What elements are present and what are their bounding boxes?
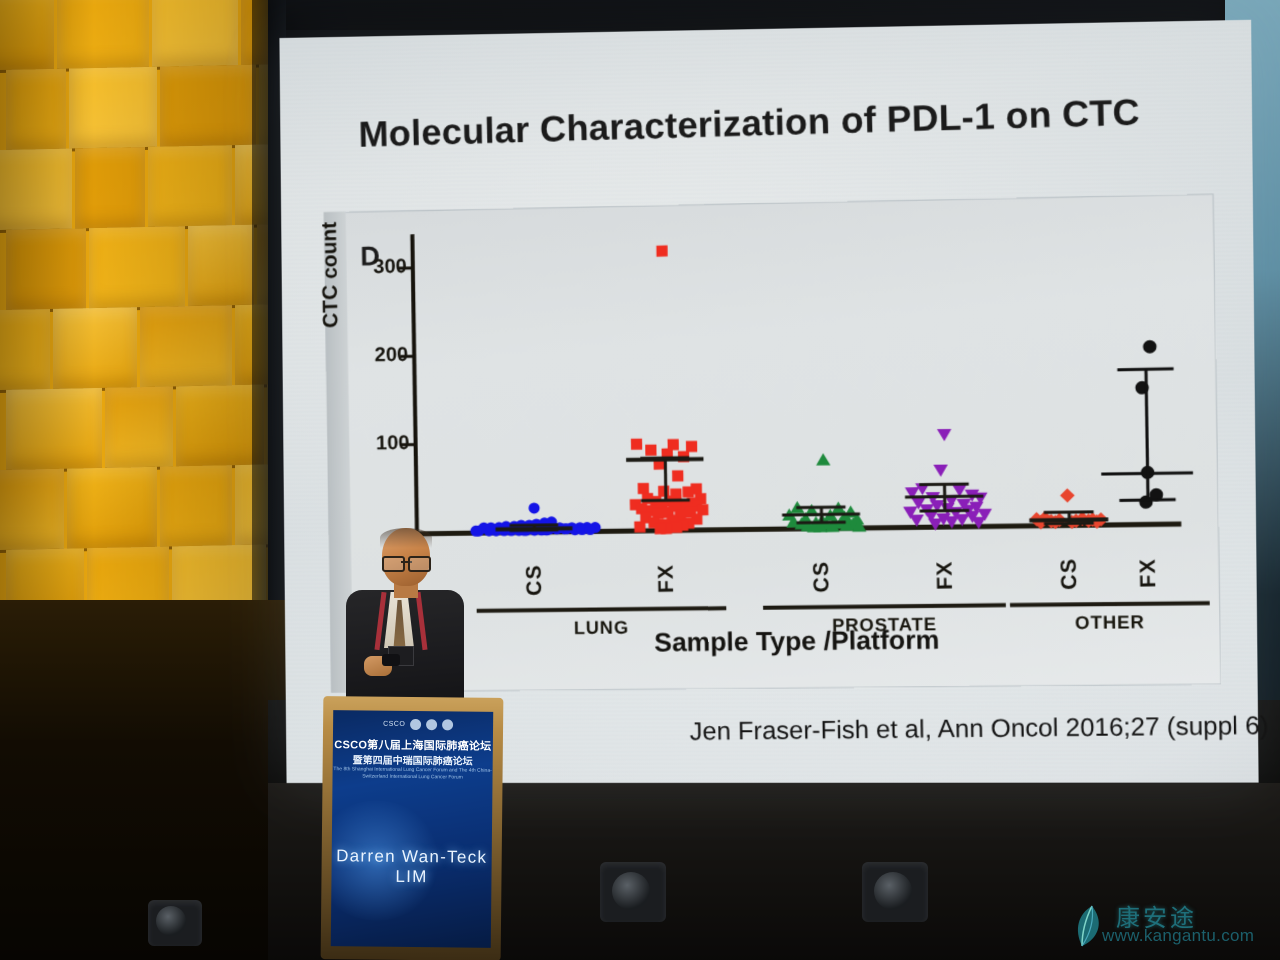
speaker-figure xyxy=(330,528,470,718)
scatter-plot: CTC count 100200300CSFXCSFXCSFXLUNGPROST… xyxy=(410,219,1194,566)
data-point xyxy=(584,523,595,534)
speaker-hair xyxy=(380,528,432,548)
slide-citation: Jen Fraser-Fish et al, Ann Oncol 2016;27… xyxy=(690,711,1269,746)
data-point xyxy=(630,438,641,449)
data-point xyxy=(470,525,481,536)
wall-shading xyxy=(0,0,268,620)
data-point xyxy=(928,518,943,530)
group-rule xyxy=(477,606,727,613)
error-bar xyxy=(1044,511,1093,515)
y-tick-label: 200 xyxy=(374,344,408,368)
y-tick-label: 300 xyxy=(373,255,407,279)
presentation-photo: Molecular Characterization of PDL-1 on C… xyxy=(0,0,1280,960)
error-bar xyxy=(797,521,845,525)
group-rule xyxy=(1010,601,1210,607)
data-point xyxy=(971,517,986,529)
partner-logo-1 xyxy=(410,718,421,729)
error-bar xyxy=(920,509,969,513)
error-bar xyxy=(510,528,558,532)
podium-speaker-name: Darren Wan-Teck LIM xyxy=(331,846,491,888)
podium-forum-title-en: The 8th Shanghai International Lung Canc… xyxy=(333,766,493,782)
data-point xyxy=(528,502,539,513)
error-bar xyxy=(819,506,822,522)
error-bar xyxy=(1117,368,1174,372)
podium: CSCO CSCO第八届上海国际肺癌论坛 暨第四届中瑞国际肺癌论坛 The 8t… xyxy=(321,696,504,960)
podium-display: CSCO CSCO第八届上海国际肺癌论坛 暨第四届中瑞国际肺癌论坛 The 8t… xyxy=(331,710,493,948)
x-tick-label-other-fx: FX xyxy=(1136,557,1162,590)
data-point xyxy=(645,444,656,455)
csco-logo-text: CSCO xyxy=(383,720,405,727)
data-point xyxy=(682,487,693,498)
watermark-url: www.kangantu.com xyxy=(1102,926,1254,946)
data-point xyxy=(945,516,960,528)
y-tick-label: 100 xyxy=(376,432,410,456)
data-point xyxy=(909,515,924,527)
error-bar xyxy=(797,505,845,509)
data-point xyxy=(852,519,867,531)
podium-logo-row: CSCO xyxy=(383,718,488,731)
group-rule xyxy=(763,603,1006,610)
x-tick-label-prostate-cs: CS xyxy=(809,560,834,593)
error-bar xyxy=(942,484,946,510)
error-bar xyxy=(920,483,969,487)
x-tick-label-lung-fx: FX xyxy=(654,562,679,595)
error-bar xyxy=(1119,498,1176,502)
speaker-lanyard xyxy=(372,592,430,652)
x-tick-label-other-cs: CS xyxy=(1057,557,1082,590)
data-point xyxy=(670,521,681,532)
data-point xyxy=(937,429,952,441)
data-point xyxy=(634,521,645,532)
y-axis xyxy=(410,234,419,535)
error-bar xyxy=(663,457,667,500)
data-point xyxy=(654,523,665,534)
partner-logo-2 xyxy=(426,719,437,730)
x-tick-label-lung-cs: CS xyxy=(522,564,547,596)
presentation-clicker xyxy=(382,654,400,666)
data-point xyxy=(656,245,667,256)
data-point xyxy=(672,471,683,482)
data-point xyxy=(933,465,948,477)
x-axis-title: Sample Type /Platform xyxy=(417,622,1184,661)
data-point xyxy=(685,440,696,451)
partner-logo-3 xyxy=(442,719,453,730)
stage-light-lens-2 xyxy=(612,872,650,910)
podium-forum-title-line2: 暨第四届中瑞国际肺癌论坛 xyxy=(333,751,493,768)
error-bar xyxy=(510,523,558,527)
stage-light-lens-3 xyxy=(874,872,912,910)
x-tick-label-prostate-fx: FX xyxy=(933,559,958,592)
watermark: 康安途 www.kangantu.com xyxy=(1090,898,1270,954)
error-bar xyxy=(641,498,689,502)
data-point xyxy=(1060,488,1075,502)
data-point xyxy=(816,453,831,465)
glasses-icon xyxy=(382,556,431,568)
data-point xyxy=(1142,340,1156,354)
y-axis-title: CTC count xyxy=(318,222,344,329)
stage-light-lens-1 xyxy=(156,906,186,936)
error-bar xyxy=(1044,522,1093,526)
